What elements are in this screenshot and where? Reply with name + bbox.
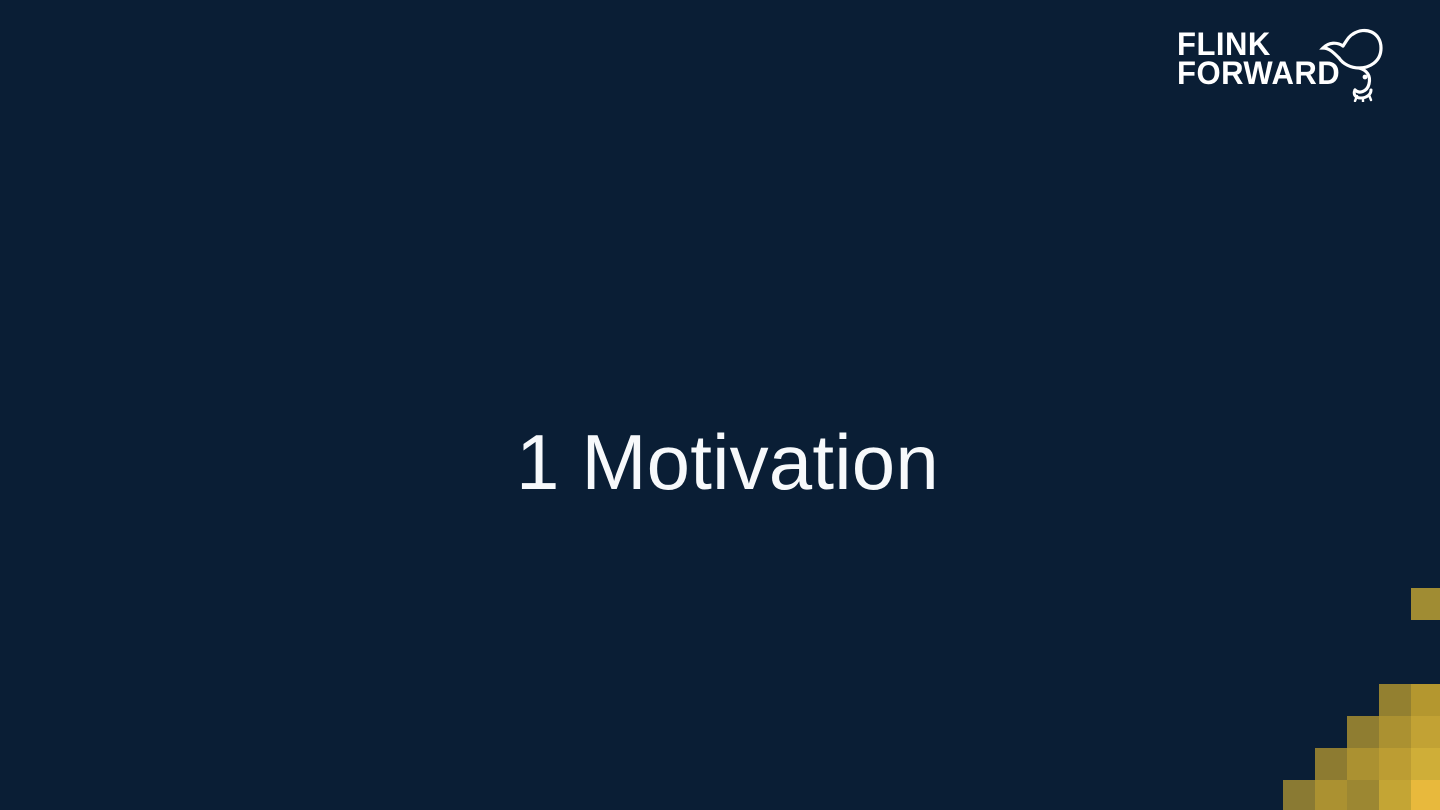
pixel-cell: [1411, 716, 1440, 748]
presentation-slide: FLINK FORWARD 1 Motivation: [0, 0, 1440, 810]
pixel-checkerboard: [1187, 588, 1440, 810]
logo-line-forward: FORWARD: [1177, 59, 1340, 88]
pixel-cell: [1379, 748, 1411, 780]
pixel-cell: [1411, 684, 1440, 716]
pixel-cell: [1379, 780, 1411, 810]
pixel-cell: [1315, 748, 1347, 780]
pixel-cell: [1347, 748, 1379, 780]
pixel-cell: [1411, 748, 1440, 780]
flink-forward-logo: FLINK FORWARD: [1177, 30, 1385, 107]
pixel-cell: [1283, 780, 1315, 810]
pixel-cell: [1315, 780, 1347, 810]
slide-title: 1 Motivation: [516, 417, 939, 508]
pixel-cell: [1411, 780, 1440, 810]
pixel-cell: [1379, 716, 1411, 748]
pixel-cell: [1411, 588, 1440, 620]
pixel-cell: [1347, 716, 1379, 748]
pixel-cell: [1379, 684, 1411, 716]
pixel-cell: [1347, 780, 1379, 810]
